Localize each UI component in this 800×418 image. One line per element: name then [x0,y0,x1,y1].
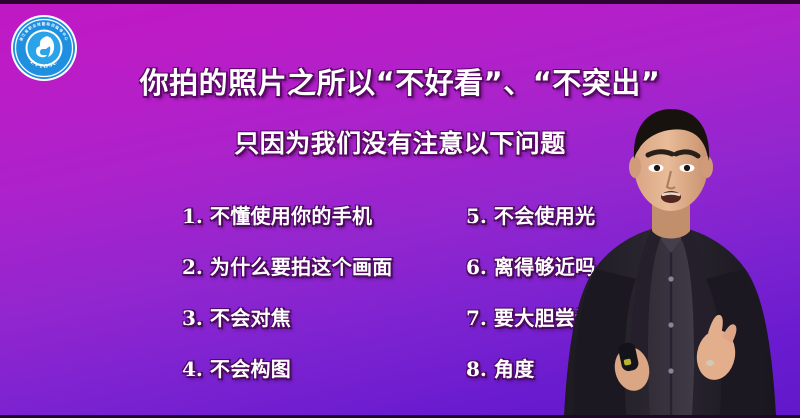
list-item: 2. 为什么要拍这个画面 [182,251,393,302]
presenter-pupil-left [654,165,660,171]
presenter-ring [706,360,714,366]
shirt-button [668,322,673,327]
top-letterbox-strip [0,0,800,4]
shirt-button [668,276,673,281]
list-item-number: 3. [182,306,203,330]
list-item-number: 1. [182,204,203,228]
headline-container: 你拍的照片之所以“不好看”、“不突出” [0,68,800,98]
list-item: 1. 不懂使用你的手机 [182,200,393,251]
list-item-number: 8. [466,357,487,381]
list-item-label: 角度 [494,353,535,382]
list-item-number: 4. [182,357,203,381]
list-item-number: 5. [466,204,487,228]
presenter-pupil-right [684,165,690,171]
shirt-button [668,368,673,373]
presentation-slide: 浙江省职业技能培训指导中心 ZVTGSC 你拍的照片之所以“不好看”、“不突出”… [0,0,800,418]
list-item-label: 为什么要拍这个画面 [210,251,393,280]
list-item: 3. 不会对焦 [182,302,393,353]
list-item-number: 6. [466,255,487,279]
list-item-label: 不懂使用你的手机 [210,200,372,229]
presenter-teeth [662,194,680,196]
presenter-illustration [540,97,800,415]
organization-logo: 浙江省职业技能培训指导中心 ZVTGSC [9,13,79,83]
list-column-left: 1. 不懂使用你的手机 2. 为什么要拍这个画面 3. 不会对焦 4. 不会构图 [182,200,393,404]
list-item-label: 不会对焦 [210,302,291,331]
presenter-ear-right [701,156,713,178]
list-item-label: 不会构图 [210,353,291,382]
list-item-number: 7. [466,306,487,330]
presenter-ear-left [629,156,641,178]
presenter-figure [540,97,800,415]
list-item: 4. 不会构图 [182,353,393,404]
seal-icon: 浙江省职业技能培训指导中心 ZVTGSC [9,13,79,83]
list-item-number: 2. [182,255,203,279]
headline-text: 你拍的照片之所以“不好看”、“不突出” [0,68,800,98]
